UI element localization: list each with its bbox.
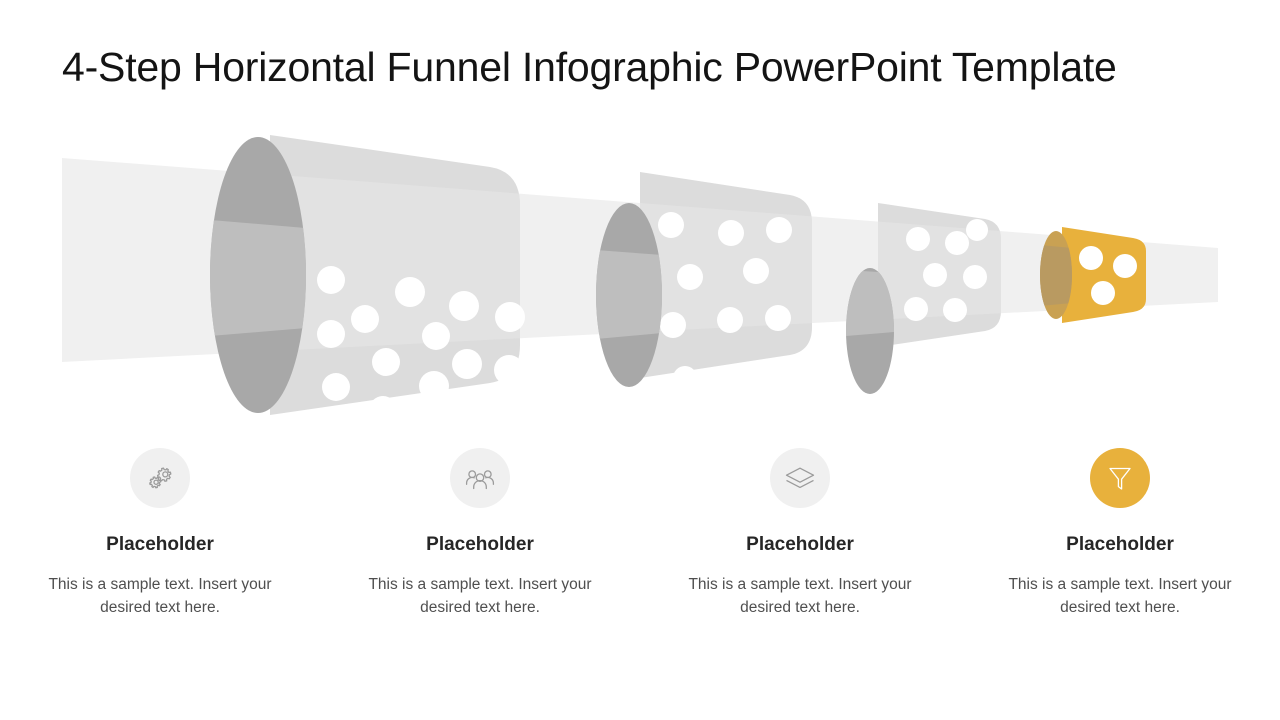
step-item-4[interactable]: Placeholder This is a sample text. Inser… [960,448,1280,658]
step-1-description: This is a sample text. Insert your desir… [46,573,274,619]
step-2-icon-circle[interactable] [450,448,510,508]
step-3-title: Placeholder [746,534,854,556]
step-1-title: Placeholder [106,534,214,556]
step-2-description: This is a sample text. Insert your desir… [366,573,594,619]
layers-icon [784,464,816,492]
step-2-title: Placeholder [426,534,534,556]
step-4-description: This is a sample text. Insert your desir… [1006,573,1234,619]
step-1-icon-circle[interactable] [130,448,190,508]
users-group-icon [464,463,496,493]
step-3-description: This is a sample text. Insert your desir… [686,573,914,619]
steps-row: Placeholder This is a sample text. Inser… [0,448,1280,658]
step-item-3[interactable]: Placeholder This is a sample text. Inser… [640,448,960,658]
step-3-icon-circle[interactable] [770,448,830,508]
step-4-title: Placeholder [1066,534,1174,556]
gears-icon [145,463,175,493]
funnel-icon [1106,463,1134,493]
page-title: 4-Step Horizontal Funnel Infographic Pow… [62,42,1222,92]
slide-canvas: 4-Step Horizontal Funnel Infographic Pow… [0,0,1280,720]
step-item-1[interactable]: Placeholder This is a sample text. Inser… [0,448,320,658]
step-item-2[interactable]: Placeholder This is a sample text. Inser… [320,448,640,658]
step-4-icon-circle[interactable] [1090,448,1150,508]
funnel-stage-4[interactable] [1040,227,1146,323]
funnel-diagram [0,120,1280,430]
